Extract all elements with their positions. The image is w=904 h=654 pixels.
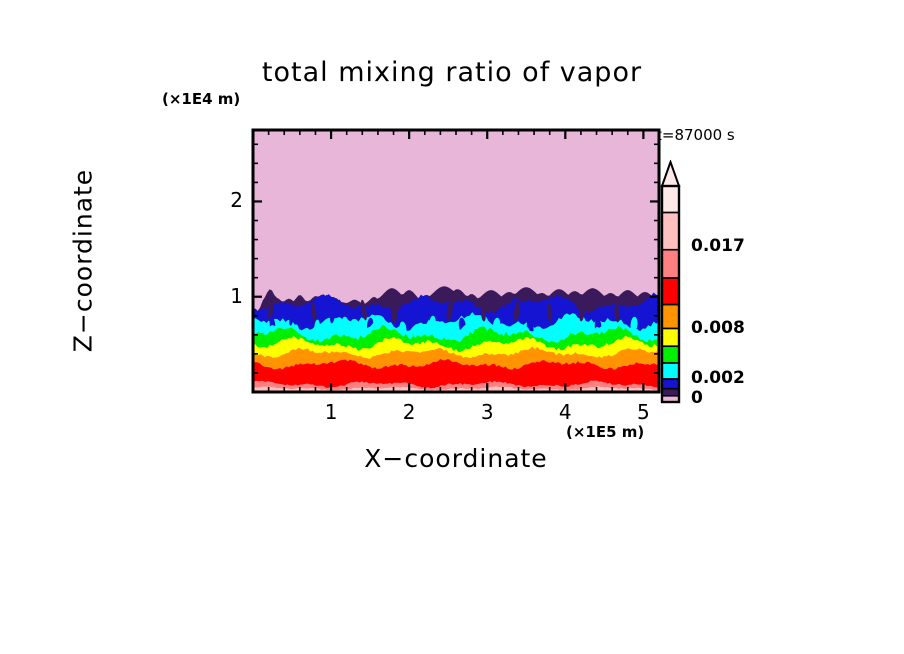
colorbar-extend-arrow — [662, 162, 679, 186]
x-tick-label: 5 — [623, 400, 663, 424]
cb-band-orange — [662, 305, 679, 329]
y-axis-title: Z−coordinate — [69, 121, 98, 401]
x-axis-title: X−coordinate — [253, 444, 659, 473]
x-tick-label: 4 — [545, 400, 585, 424]
figure-root: total mixing ratio of vapor (×1E4 m) t=8… — [0, 0, 904, 654]
cb-band-very-light-pink — [662, 186, 679, 213]
contour-field — [253, 286, 659, 392]
x-tick-label: 3 — [467, 400, 507, 424]
time-annotation: t=87000 s — [656, 126, 735, 144]
contour-plot-panel — [245, 122, 665, 422]
chart-title: total mixing ratio of vapor — [0, 57, 904, 88]
cb-band-pink — [662, 213, 679, 250]
colorbar-tick-label: 0.008 — [691, 318, 745, 338]
y-axis-unit-label: (×1E4 m) — [162, 90, 240, 108]
cb-band-red — [662, 278, 679, 305]
cb-band-navy — [662, 389, 679, 396]
cb-band-yellow — [662, 329, 679, 347]
cb-band-green — [662, 346, 679, 363]
y-tick-label: 1 — [215, 284, 243, 308]
x-tick-label: 2 — [389, 400, 429, 424]
y-tick-label: 2 — [215, 188, 243, 212]
cb-band-cyan — [662, 363, 679, 379]
colorbar — [656, 160, 690, 405]
x-axis-unit-label: (×1E5 m) — [566, 423, 644, 441]
x-tick-label: 1 — [311, 400, 351, 424]
cb-band-salmon — [662, 250, 679, 278]
colorbar-tick-label: 0 — [691, 388, 703, 408]
colorbar-tick-label: 0.002 — [691, 368, 745, 388]
colorbar-tick-label: 0.017 — [691, 236, 745, 256]
cb-band-blue — [662, 379, 679, 389]
